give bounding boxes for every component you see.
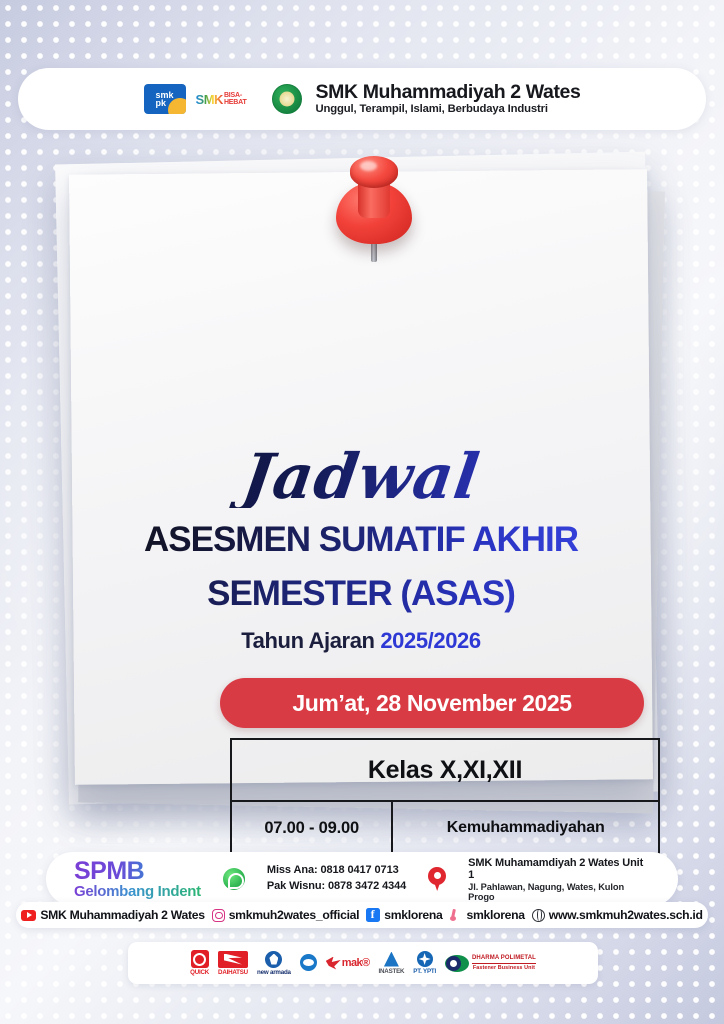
academic-year-value: 2025/2026 bbox=[380, 628, 480, 653]
header-text: SMK Muhammadiyah 2 Wates Unggul, Terampi… bbox=[316, 82, 581, 117]
footer-contact-bar: SPMB Gelombang Indent Miss Ana: 0818 041… bbox=[46, 852, 678, 906]
quick-logo-icon bbox=[191, 950, 209, 968]
whatsapp-icon bbox=[223, 868, 245, 890]
header-bar: smkpk SMKBISA-HEBAT SMK Muhammadiyah 2 W… bbox=[18, 68, 706, 130]
social-instagram[interactable]: smkmuh2wates_official bbox=[212, 908, 360, 922]
poster-canvas: smkpk SMKBISA-HEBAT SMK Muhammadiyah 2 W… bbox=[0, 0, 724, 1024]
title-line-1: ASESMEN SUMATIF AKHIR bbox=[72, 520, 650, 560]
spmb-subtitle: Gelombang Indent bbox=[74, 884, 201, 899]
partner-daihatsu: DAIHATSU bbox=[218, 951, 248, 976]
title-line-2: SEMESTER (ASAS) bbox=[72, 574, 650, 614]
partner-name: mak® bbox=[342, 957, 370, 969]
footer-social-bar: SMK Muhammadiyah 2 Wates smkmuh2wates_of… bbox=[16, 902, 708, 928]
mak-bird-icon bbox=[326, 957, 341, 970]
social-website[interactable]: www.smkmuh2wates.sch.id bbox=[532, 908, 703, 922]
school-tagline: Unggul, Terampil, Islami, Berbudaya Indu… bbox=[316, 102, 581, 116]
partner-name: INASTEK bbox=[379, 968, 405, 975]
social-tiktok[interactable]: smklorena bbox=[450, 908, 525, 922]
partner-new-armada: new armada bbox=[257, 951, 291, 976]
website-icon bbox=[532, 909, 545, 922]
youtube-icon bbox=[21, 910, 36, 921]
partner-ypti: PT. YPTI bbox=[413, 951, 436, 975]
contact-numbers: Miss Ana: 0818 0417 0713 Pak Wisnu: 0878… bbox=[267, 863, 406, 895]
partner-name: new armada bbox=[257, 969, 291, 976]
contact-line-1: Miss Ana: 0818 0417 0713 bbox=[267, 863, 406, 879]
pelayaran-logo-icon bbox=[300, 954, 317, 971]
social-facebook[interactable]: smklorena bbox=[366, 908, 442, 922]
address-block: SMK Muhamamdiyah 2 Wates Unit 1 Jl. Pahl… bbox=[468, 857, 650, 902]
partner-subname: Fastener Business Unit bbox=[472, 965, 536, 971]
partner-name: PT. YPTI bbox=[413, 968, 436, 975]
pushpin-icon bbox=[330, 152, 418, 270]
social-label: smkmuh2wates_official bbox=[229, 908, 360, 922]
spmb-title: SPMB bbox=[74, 859, 201, 884]
smk-pk-logo: smkpk bbox=[144, 84, 186, 114]
partner-quick: QUICK bbox=[190, 950, 209, 976]
social-youtube[interactable]: SMK Muhammadiyah 2 Wates bbox=[21, 908, 204, 922]
partner-pelayaran bbox=[300, 954, 317, 972]
academic-year-prefix: Tahun Ajaran bbox=[241, 628, 380, 653]
table-header-cell: Kelas X,XI,XII bbox=[231, 739, 659, 801]
instagram-icon bbox=[212, 909, 225, 922]
spmb-logo: SPMB Gelombang Indent bbox=[74, 859, 201, 899]
date-banner: Jum’at, 28 November 2025 bbox=[220, 678, 644, 728]
inastek-logo-icon bbox=[384, 952, 399, 967]
social-label: www.smkmuh2wates.sch.id bbox=[549, 908, 703, 922]
tiktok-icon bbox=[450, 908, 463, 922]
social-label: SMK Muhammadiyah 2 Wates bbox=[40, 908, 204, 922]
muhammadiyah-logo bbox=[272, 84, 302, 114]
academic-year: Tahun Ajaran 2025/2026 bbox=[72, 628, 650, 654]
partner-logos-bar: QUICK DAIHATSU new armada mak® INASTEK P… bbox=[128, 942, 598, 984]
daihatsu-logo-icon bbox=[218, 951, 248, 968]
table-row: 07.00 - 09.00 Kemuhammadiyahan bbox=[231, 801, 659, 855]
dharma-logo-icon bbox=[445, 955, 469, 972]
social-label: smklorena bbox=[384, 908, 442, 922]
partner-mak: mak® bbox=[326, 957, 370, 970]
script-title: Jadwal bbox=[68, 446, 655, 508]
row-subject: Kemuhammadiyahan bbox=[392, 801, 659, 855]
ypti-logo-icon bbox=[417, 951, 433, 967]
table-header-row: Kelas X,XI,XII bbox=[231, 739, 659, 801]
partner-name: DAIHATSU bbox=[218, 969, 248, 976]
contact-line-2: Pak Wisnu: 0878 3472 4344 bbox=[267, 879, 406, 895]
partner-inastek: INASTEK bbox=[379, 952, 405, 975]
facebook-icon bbox=[366, 908, 380, 922]
address-line-2: Jl. Pahlawan, Nagung, Wates, Kulon Progo bbox=[468, 882, 650, 902]
row-time: 07.00 - 09.00 bbox=[231, 801, 392, 855]
address-line-1: SMK Muhamamdiyah 2 Wates Unit 1 bbox=[468, 857, 650, 881]
social-label: smklorena bbox=[467, 908, 525, 922]
new-armada-logo-icon bbox=[265, 951, 282, 968]
school-name: SMK Muhammadiyah 2 Wates bbox=[316, 82, 581, 102]
partner-name: DHARMA POLIMETAL bbox=[472, 955, 536, 963]
partner-name: QUICK bbox=[190, 969, 209, 976]
location-pin-icon bbox=[428, 867, 446, 891]
partner-dharma-polimetal: DHARMA POLIMETAL Fastener Business Unit bbox=[445, 955, 536, 972]
date-banner-label: Jum’at, 28 November 2025 bbox=[292, 690, 571, 717]
smk-bisa-hebat-logo: SMKBISA-HEBAT bbox=[196, 86, 262, 112]
